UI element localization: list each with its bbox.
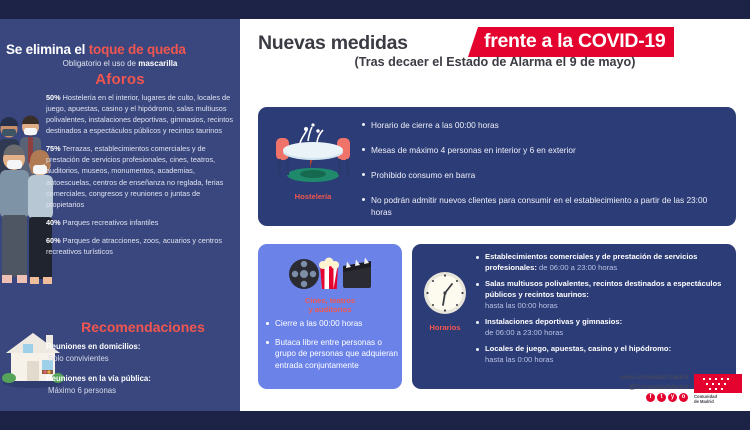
bullet-sub: hasta las 00:00 horas (485, 301, 558, 310)
aforos-item: 50% Hostelería en el interior, lugares d… (46, 92, 236, 136)
cines-bullets: Cierre a las 00:00 horas Butaca libre en… (266, 318, 398, 379)
aforos-pct: 40% (46, 218, 61, 227)
horarios-label: Horarios (416, 323, 474, 332)
infographic-screen: Se elimina el toque de queda Obligatorio… (0, 0, 750, 430)
heading-recomendaciones: Recomendaciones (46, 319, 240, 335)
bullet-bold: Instalaciones deportivas y gimnasios: (485, 317, 622, 326)
card-cines: Cines, teatros y auditorios Cierre a las… (258, 244, 402, 389)
bullet-sub: de 06:00 a 23:00 horas (537, 263, 617, 272)
comunidad-madrid-logo: Comunidad de Madrid (694, 374, 742, 405)
clock-icon (422, 270, 468, 316)
letterbox-top (0, 0, 750, 19)
hosteleria-icon-group: Hostelería (272, 121, 354, 201)
left-panel: Se elimina el toque de queda Obligatorio… (0, 19, 240, 411)
restaurant-table-icon (272, 121, 354, 187)
cines-icon-group: Cines, teatros y auditorios (258, 252, 402, 315)
bullet-item: Mesas de máximo 4 personas en interior y… (362, 144, 724, 156)
bullet-sub: de 06:00 a 23:00 horas (485, 328, 563, 337)
recommendation-title: Reuniones en domicilios: (46, 341, 238, 353)
page-title: Se elimina el toque de queda (6, 42, 238, 57)
heading-aforos: Aforos (0, 71, 240, 88)
aforos-text: Hostelería en el interior, lugares de cu… (46, 93, 233, 135)
aforos-text: Parques de atracciones, zoos, acuarios y… (46, 236, 222, 256)
twitter-icon[interactable]: t (657, 393, 666, 402)
mask-subtitle-bold: mascarilla (138, 59, 177, 68)
card-hosteleria: Hostelería Horario de cierre a las 00:00… (258, 107, 736, 226)
aforos-pct: 75% (46, 144, 61, 153)
recommendation-value: Solo convivientes (46, 353, 238, 365)
hosteleria-label: Hostelería (272, 192, 354, 201)
page-title-white: Se elimina el (6, 42, 89, 57)
bullet-item: Locales de juego, apuestas, casino y el … (476, 344, 732, 365)
footer-website[interactable]: www.comunidad.madrid (620, 373, 688, 383)
bullet-item: Cierre a las 00:00 horas (266, 318, 398, 330)
cines-label: Cines, teatros y auditorios (258, 296, 402, 315)
footer: www.comunidad.madrid @ComunidadMadrid f … (240, 371, 750, 409)
logo-stars-icon (694, 374, 742, 393)
logo-text: Comunidad de Madrid (694, 394, 742, 405)
aforos-item: 75% Terrazas, establecimientos comercial… (46, 143, 236, 209)
header-title: Nuevas medidas (258, 32, 408, 55)
recommendation-value: Máximo 6 personas (46, 385, 238, 397)
recommendation-title: Reuniones en la vía pública: (46, 373, 238, 385)
aforos-item: 40% Parques recreativos infantiles (46, 217, 236, 228)
footer-handle[interactable]: @ComunidadMadrid (620, 383, 688, 393)
instagram-icon[interactable]: o (679, 393, 688, 402)
bullet-sub: hasta las 0:00 horas (485, 355, 553, 364)
aforos-item: 60% Parques de atracciones, zoos, acuari… (46, 235, 236, 257)
card-horarios: Horarios Establecimientos comerciales y … (412, 244, 736, 389)
bullet-item: Salas multiusos polivalentes, recintos d… (476, 279, 732, 311)
logo-text-line2: de Madrid (694, 399, 714, 404)
social-links: f t y o (646, 393, 688, 402)
bullet-bold: Salas multiusos polivalentes, recintos d… (485, 279, 721, 299)
cines-label-line2: y auditorios (308, 305, 351, 314)
bullet-item: Horario de cierre a las 00:00 horas (362, 119, 724, 131)
bullet-item: Establecimientos comerciales y de presta… (476, 252, 732, 273)
mask-subtitle: Obligatorio el uso de mascarilla (0, 59, 240, 68)
youtube-icon[interactable]: y (668, 393, 677, 402)
bullet-bold: Locales de juego, apuestas, casino y el … (485, 344, 671, 353)
footer-text: www.comunidad.madrid @ComunidadMadrid (620, 373, 688, 392)
bullet-item: Butaca libre entre personas o grupo de p… (266, 337, 398, 372)
page-title-red: toque de queda (89, 42, 186, 57)
logo-text-line1: Comunidad (694, 394, 717, 399)
aforos-text: Terrazas, establecimientos comerciales y… (46, 144, 223, 208)
horarios-bullets: Establecimientos comerciales y de presta… (476, 252, 732, 372)
facebook-icon[interactable]: f (646, 393, 655, 402)
cines-label-line1: Cines, teatros (305, 296, 355, 305)
bullet-item: Instalaciones deportivas y gimnasios: de… (476, 317, 732, 338)
horarios-icon-group: Horarios (416, 270, 474, 332)
mask-subtitle-prefix: Obligatorio el uso de (63, 59, 139, 68)
aforos-pct: 50% (46, 93, 61, 102)
cinema-reel-popcorn-clapperboard-icon (287, 252, 373, 290)
header-highlight: frente a la COVID-19 (468, 27, 674, 57)
right-panel: Nuevas medidas frente a la COVID-19 (Tra… (240, 19, 750, 411)
bullet-item: Prohibido consumo en barra (362, 169, 724, 181)
header-subtitle: (Tras decaer el Estado de Alarma el 9 de… (240, 55, 750, 69)
letterbox-bottom (0, 411, 750, 430)
hosteleria-bullets: Horario de cierre a las 00:00 horas Mesa… (362, 119, 724, 231)
aforos-list: 50% Hostelería en el interior, lugares d… (46, 92, 236, 264)
aforos-pct: 60% (46, 236, 61, 245)
recommendations-list: Reuniones en domicilios: Solo convivient… (46, 341, 238, 406)
aforos-text: Parques recreativos infantiles (61, 218, 159, 227)
bullet-item: No podrán admitir nuevos clientes para c… (362, 194, 724, 218)
